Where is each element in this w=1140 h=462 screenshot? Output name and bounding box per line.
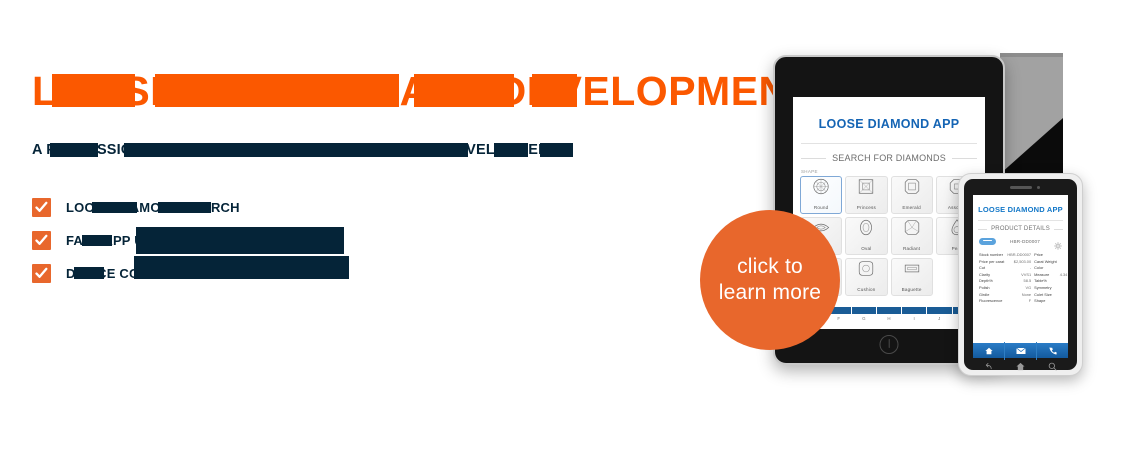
subheadline-redaction-block <box>50 143 98 157</box>
phone-soft-keys <box>973 360 1068 374</box>
shape-option-round[interactable]: Round <box>800 176 842 214</box>
slider-segment <box>902 307 927 314</box>
detail-key: Color <box>1034 265 1057 270</box>
headline-redaction-block <box>414 74 514 107</box>
divider-line <box>978 229 987 230</box>
oval-diamond-icon <box>858 219 875 241</box>
divider <box>978 220 1063 221</box>
detail-key: Price per carat <box>979 259 1004 264</box>
list-redaction-block <box>82 235 112 246</box>
back-button[interactable] <box>979 238 996 245</box>
subheadline-redaction-block <box>494 143 528 157</box>
nav-home-button[interactable] <box>973 342 1005 360</box>
phone-section-header: PRODUCT DETAILS <box>973 226 1068 232</box>
detail-value: F <box>1060 265 1068 270</box>
color-tick: G <box>851 316 876 321</box>
tablet-section-label: SEARCH FOR DIAMONDS <box>826 153 952 163</box>
shape-label: Baguette <box>892 287 932 292</box>
phone-detail-toolbar: HBR-DD0007 <box>973 232 1068 249</box>
detail-key: Symmetry <box>1034 285 1057 290</box>
shape-label: Radiant <box>892 246 932 251</box>
baguette-diamond-icon <box>903 260 920 282</box>
detail-key: Price <box>1034 252 1057 257</box>
cta-line-2: learn more <box>719 280 821 306</box>
check-icon <box>32 264 51 283</box>
headline-redaction-block <box>532 74 577 107</box>
divider-line <box>801 158 826 159</box>
home-icon <box>1016 358 1025 376</box>
detail-key: Depth% <box>979 278 1004 283</box>
phone-icon <box>1049 342 1057 360</box>
shape-label: Emerald <box>892 205 932 210</box>
shape-label: Oval <box>846 246 886 251</box>
color-tick: H <box>876 316 901 321</box>
detail-value: VG <box>1060 285 1068 290</box>
detail-key: Polish <box>979 285 1004 290</box>
detail-value: VVS1 <box>1007 272 1031 277</box>
check-icon <box>32 198 51 217</box>
phone-bezel: LOOSE DIAMOND APP PRODUCT DETAILS HBR-DD… <box>964 179 1077 370</box>
detail-key: Table% <box>1034 278 1057 283</box>
list-item: LOOSE DIAMOND SEARCH <box>32 198 285 217</box>
detail-value: VG <box>1007 285 1031 290</box>
shape-option-baguette[interactable]: Baguette <box>891 258 933 296</box>
detail-value: 4.34 x 4.35 x 2.68 <box>1060 272 1068 277</box>
shape-option-cushion[interactable]: Cushion <box>845 258 887 296</box>
detail-value: HBR-DD0007 <box>1007 252 1031 257</box>
shape-label: Princess <box>846 205 886 210</box>
slider-segment <box>877 307 902 314</box>
shape-option-emerald[interactable]: Emerald <box>891 176 933 214</box>
detail-value: $751.00 <box>1060 252 1068 257</box>
shape-option-princess[interactable]: Princess <box>845 176 887 214</box>
phone-app-navbar <box>973 343 1068 358</box>
detail-value: N <box>1060 292 1068 297</box>
divider <box>801 143 977 144</box>
detail-value: 58.5 <box>1007 278 1031 283</box>
color-tick: J <box>927 316 952 321</box>
detail-value: 58 <box>1060 278 1068 283</box>
gear-icon[interactable] <box>1054 237 1062 245</box>
radiant-diamond-icon <box>903 219 920 241</box>
phone-speaker <box>1010 186 1032 189</box>
detail-value: F <box>1007 298 1031 303</box>
page-subtitle: A PROFESSIONAL SOLUTION FOR LOOSE DIAMON… <box>32 142 560 158</box>
list-redaction-block <box>74 267 104 279</box>
phone-device: LOOSE DIAMOND APP PRODUCT DETAILS HBR-DD… <box>958 173 1083 376</box>
color-tick: I <box>902 316 927 321</box>
phone-app-title: LOOSE DIAMOND APP <box>973 205 1068 214</box>
phone-screen[interactable]: LOOSE DIAMOND APP PRODUCT DETAILS HBR-DD… <box>973 195 1068 343</box>
nav-mail-button[interactable] <box>1005 342 1037 360</box>
slider-segment <box>927 307 952 314</box>
headline-redaction-block <box>155 74 399 107</box>
subheadline-redaction-block <box>124 143 468 157</box>
tablet-section-header: SEARCH FOR DIAMONDS <box>793 153 985 163</box>
list-item: DEVICE COMPATIBLE INTERFACE <box>32 264 285 283</box>
device-showcase: LOOSE DIAMOND APP SEARCH FOR DIAMONDS SH… <box>660 0 1140 462</box>
divider-line <box>1054 229 1063 230</box>
feature-checklist: LOOSE DIAMOND SEARCH FAST APP UPDATES DE… <box>32 198 285 297</box>
detail-value: None <box>1007 292 1031 297</box>
detail-value: $2,503.00 <box>1007 259 1031 264</box>
list-redaction-block <box>158 202 211 213</box>
list-redaction-block <box>136 227 344 254</box>
softkey-search-button[interactable] <box>1036 358 1068 376</box>
phone-camera-icon <box>1037 186 1040 189</box>
search-icon <box>1048 358 1057 376</box>
back-icon <box>984 358 993 376</box>
learn-more-badge[interactable]: click to learn more <box>700 210 840 350</box>
detail-key: Culet Size <box>1034 292 1057 297</box>
princess-diamond-icon <box>858 178 875 200</box>
slider-segment <box>852 307 877 314</box>
color-tick: F <box>826 316 851 321</box>
cushion-diamond-icon <box>858 260 875 282</box>
headline-redaction-block <box>52 74 135 107</box>
product-sku: HBR-DD0007 <box>1010 239 1040 244</box>
detail-key: Shape <box>1034 298 1057 303</box>
banner-copy: LOOSE DIAMOND APP DEVELOPMENT A PROFESSI… <box>32 70 652 159</box>
shape-label: Round <box>801 205 841 210</box>
detail-key: Fluorescence <box>979 298 1004 303</box>
shape-field-label: SHAPE <box>801 169 985 174</box>
home-icon <box>985 342 993 360</box>
shape-option-oval[interactable]: Oval <box>845 217 887 255</box>
detail-value: Round <box>1060 298 1068 303</box>
list-redaction-block <box>134 256 349 279</box>
softkey-home-button[interactable] <box>1005 358 1037 376</box>
list-item-label: DEVICE COMPATIBLE INTERFACE <box>66 264 285 283</box>
divider-line <box>952 158 977 159</box>
detail-value: - <box>1007 265 1031 270</box>
detail-value: 0.3 <box>1060 259 1068 264</box>
emerald-diamond-icon <box>903 178 920 200</box>
softkey-back-button[interactable] <box>973 358 1005 376</box>
list-item: FAST APP UPDATES <box>32 231 285 250</box>
phone-section-label: PRODUCT DETAILS <box>987 226 1054 232</box>
detail-key: Cut <box>979 265 1004 270</box>
list-redaction-block <box>92 202 137 213</box>
shape-option-radiant[interactable]: Radiant <box>891 217 933 255</box>
shape-label: Cushion <box>846 287 886 292</box>
tablet-shadow-wedge <box>1000 118 1063 174</box>
envelope-icon <box>1016 342 1026 360</box>
detail-key: Stock number <box>979 252 1004 257</box>
tablet-back-panel-edge <box>1000 53 1063 57</box>
tablet-app-title: LOOSE DIAMOND APP <box>793 117 985 131</box>
subheadline-redaction-block <box>540 143 573 157</box>
list-item-label: LOOSE DIAMOND SEARCH <box>66 198 240 217</box>
list-item-label: FAST APP UPDATES <box>66 231 197 250</box>
detail-key: Girdle <box>979 292 1004 297</box>
tablet-home-button[interactable] <box>880 335 899 354</box>
check-icon <box>32 231 51 250</box>
detail-key: Measure <box>1034 272 1057 277</box>
round-diamond-icon <box>813 178 830 200</box>
cta-line-1: click to <box>737 254 803 280</box>
detail-key: Clarity <box>979 272 1004 277</box>
detail-key: Carat Weight <box>1034 259 1057 264</box>
product-details-table: Stock number HBR-DD0007 Price $751.00 Pr… <box>973 249 1068 303</box>
nav-call-button[interactable] <box>1037 342 1068 360</box>
